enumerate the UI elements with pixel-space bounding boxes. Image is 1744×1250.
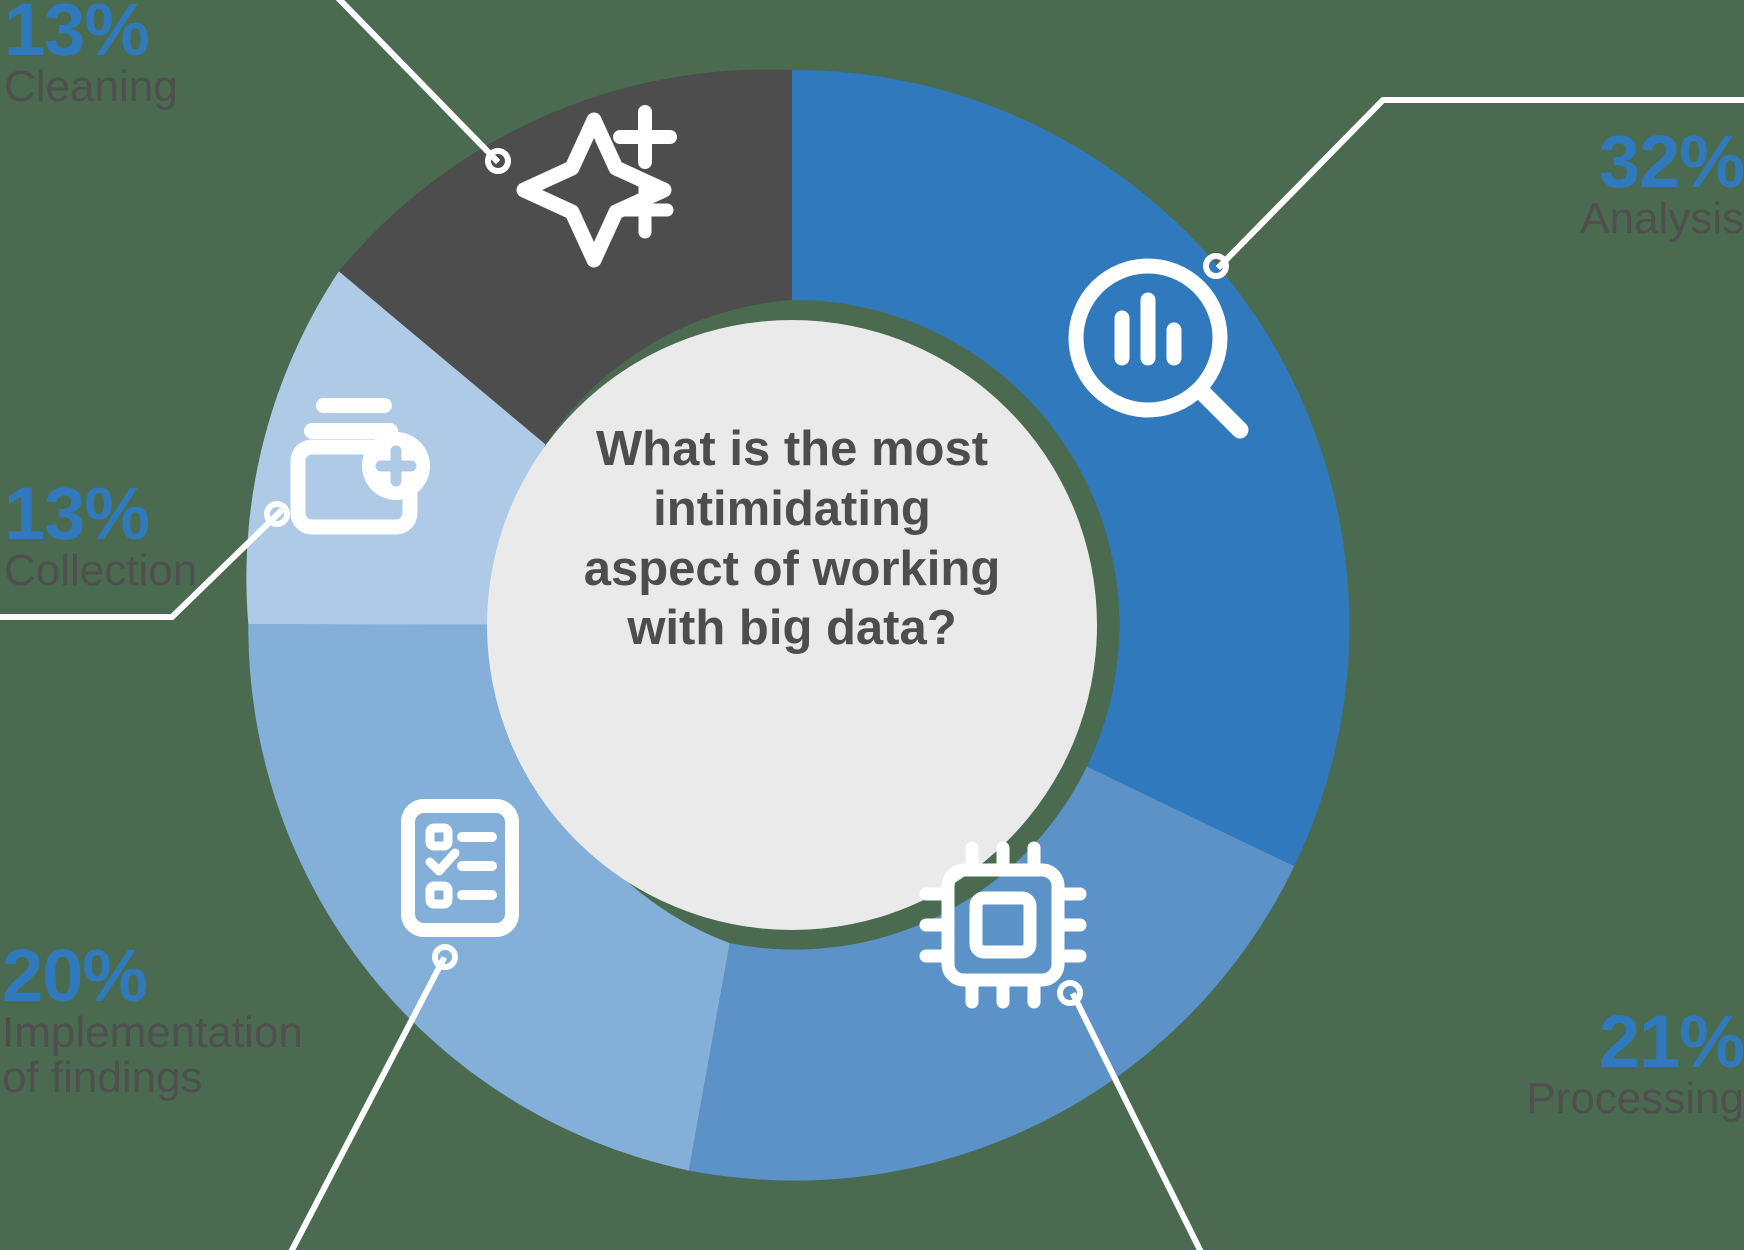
center-question-line-4: with big data? [472, 599, 1112, 659]
callout-implementation-category-line-2: of findings [2, 1056, 322, 1101]
callout-cleaning-category: Cleaning [4, 65, 178, 110]
callout-processing-percent: 21% [1364, 1006, 1744, 1077]
callout-cleaning[interactable]: 13% Cleaning [4, 0, 178, 110]
center-question: What is the most intimidating aspect of … [472, 420, 1112, 659]
callout-implementation-percent: 20% [2, 940, 322, 1011]
callout-implementation[interactable]: 20% Implementation of findings [2, 940, 322, 1101]
center-question-line-1: What is the most [472, 420, 1112, 480]
callout-collection-category: Collection [4, 549, 197, 594]
callout-analysis[interactable]: 32% Analysis [1364, 126, 1744, 242]
callout-processing[interactable]: 21% Processing [1364, 1006, 1744, 1122]
callout-cleaning-percent: 13% [4, 0, 178, 65]
callout-collection[interactable]: 13% Collection [4, 478, 197, 594]
callout-processing-category: Processing [1364, 1077, 1744, 1122]
leader-line-cleaning [340, 0, 496, 160]
center-question-line-2: intimidating [472, 480, 1112, 540]
callout-analysis-category: Analysis [1364, 197, 1744, 242]
callout-collection-percent: 13% [4, 478, 197, 549]
callout-implementation-category-line-1: Implementation [2, 1011, 322, 1056]
callout-analysis-percent: 32% [1364, 126, 1744, 197]
infographic-donut-chart: What is the most intimidating aspect of … [0, 0, 1744, 1250]
center-question-line-3: aspect of working [472, 540, 1112, 600]
